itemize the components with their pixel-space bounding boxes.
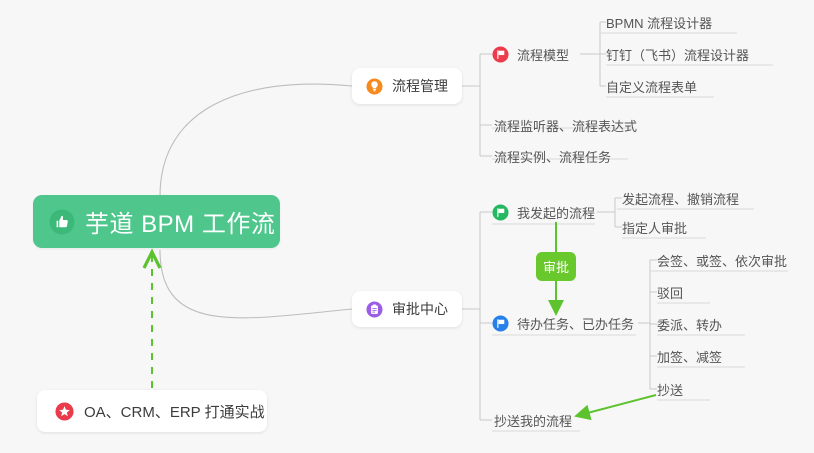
node-approval-center[interactable]: 审批中心 [352, 291, 462, 327]
node-my-started-process[interactable]: 我发起的流程 [492, 203, 595, 225]
node-cc[interactable]: 抄送 [657, 380, 683, 402]
thumbs-up-icon [49, 209, 75, 235]
node-label: 审批中心 [392, 299, 448, 319]
node-label: 待办任务、已办任务 [517, 314, 634, 333]
node-process-management[interactable]: 流程管理 [352, 68, 462, 104]
node-label: 抄送我的流程 [494, 411, 572, 430]
node-custom-form[interactable]: 自定义流程表单 [606, 77, 697, 99]
root-node[interactable]: 芋道 BPM 工作流 [33, 195, 280, 248]
node-assignee-approval[interactable]: 指定人审批 [622, 218, 687, 240]
node-add-remove-sign[interactable]: 加签、减签 [657, 347, 722, 369]
green-flag-icon [492, 204, 509, 221]
node-cc-my-process[interactable]: 抄送我的流程 [494, 411, 572, 433]
node-reject[interactable]: 驳回 [657, 283, 683, 305]
node-label: 指定人审批 [622, 218, 687, 237]
node-process-instance[interactable]: 流程实例、流程任务 [494, 147, 611, 169]
node-label: 驳回 [657, 283, 683, 302]
link-root-to-process-management [160, 84, 352, 196]
node-start-cancel-process[interactable]: 发起流程、撤销流程 [622, 189, 739, 211]
node-label: 委派、转办 [657, 315, 722, 334]
node-label: 钉钉（飞书）流程设计器 [606, 45, 749, 64]
node-label: 会签、或签、依次审批 [657, 251, 787, 270]
node-label: 我发起的流程 [517, 203, 595, 222]
node-label: 加签、减签 [657, 347, 722, 366]
root-label: 芋道 BPM 工作流 [85, 204, 275, 239]
node-label: 抄送 [657, 380, 683, 399]
node-label: BPMN 流程设计器 [606, 13, 712, 32]
node-label: 流程管理 [392, 76, 448, 96]
node-label: 流程实例、流程任务 [494, 147, 611, 166]
tag-approval[interactable]: 审批 [536, 252, 576, 281]
node-todo-done-task[interactable]: 待办任务、已办任务 [492, 314, 634, 336]
node-label: 自定义流程表单 [606, 77, 697, 96]
node-label: 流程模型 [517, 45, 569, 64]
mindmap-canvas: 芋道 BPM 工作流 流程管理 流程模型 BPMN 流程设计器 钉钉（飞书）流程 [0, 0, 814, 453]
callout-integration[interactable]: OA、CRM、ERP 打通实战 [37, 390, 267, 432]
blue-flag-icon [492, 315, 509, 332]
node-bpmn-designer[interactable]: BPMN 流程设计器 [606, 13, 712, 35]
clipboard-icon [366, 301, 383, 318]
node-counter-sign[interactable]: 会签、或签、依次审批 [657, 251, 787, 273]
node-delegate-transfer[interactable]: 委派、转办 [657, 315, 722, 337]
node-process-model[interactable]: 流程模型 [492, 45, 569, 67]
arrow-cc-to-ccmine [576, 395, 656, 416]
star-icon [55, 402, 74, 421]
lightbulb-icon [366, 78, 383, 95]
node-label: 发起流程、撤销流程 [622, 189, 739, 208]
node-label: 流程监听器、流程表达式 [494, 116, 637, 135]
callout-label: OA、CRM、ERP 打通实战 [84, 401, 265, 422]
node-dingtalk-designer[interactable]: 钉钉（飞书）流程设计器 [606, 45, 749, 67]
red-flag-icon [492, 46, 509, 63]
link-root-to-approval-center [160, 250, 352, 318]
node-process-listener[interactable]: 流程监听器、流程表达式 [494, 116, 637, 138]
tag-label: 审批 [543, 257, 569, 276]
